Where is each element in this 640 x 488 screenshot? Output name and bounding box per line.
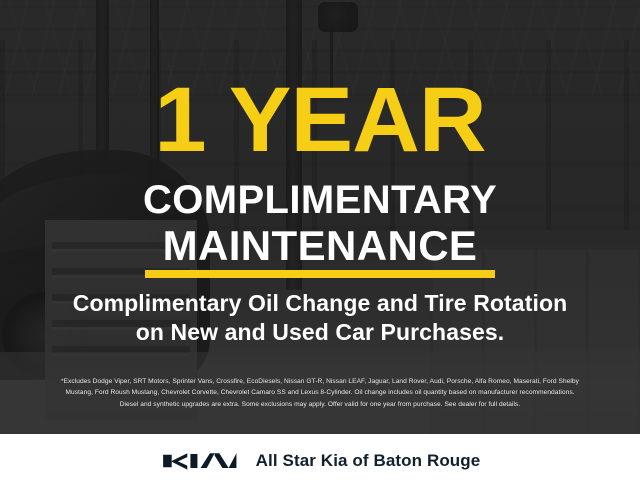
subheadline: COMPLIMENTARY MAINTENANCE [0, 178, 640, 268]
subheadline-line-1: COMPLIMENTARY [143, 178, 497, 222]
dealer-name: All Star Kia of Baton Rouge [256, 451, 481, 471]
disclaimer-line-3: Diesel and synthetic upgrades are extra.… [14, 399, 626, 410]
headline-1-year: 1 YEAR [0, 74, 640, 166]
offer-description-line-1: Complimentary Oil Change and Tire Rotati… [73, 290, 568, 316]
banner-content: 1 YEAR COMPLIMENTARY MAINTENANCE Complim… [0, 0, 640, 434]
offer-description: Complimentary Oil Change and Tire Rotati… [0, 289, 640, 347]
yellow-divider-bar [145, 270, 495, 278]
dealer-footer: All Star Kia of Baton Rouge [0, 434, 640, 488]
kia-logo [160, 450, 238, 472]
disclaimer-line-1: *Excludes Dodge Viper, SRT Motors, Sprin… [14, 376, 626, 387]
disclaimer-line-2: Mustang, Ford Roush Mustang, Chevrolet C… [14, 387, 626, 398]
offer-description-line-2: on New and Used Car Purchases. [136, 319, 505, 345]
disclaimer-fine-print: *Excludes Dodge Viper, SRT Motors, Sprin… [14, 376, 626, 410]
promotional-banner: 1 YEAR COMPLIMENTARY MAINTENANCE Complim… [0, 0, 640, 488]
subheadline-line-2: MAINTENANCE [0, 223, 640, 268]
